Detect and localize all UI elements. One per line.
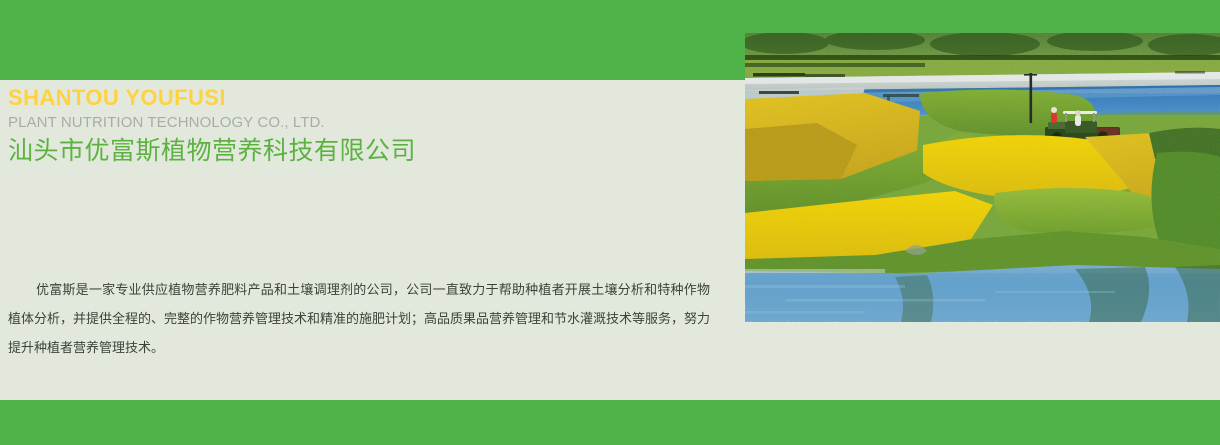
company-name-en: SHANTOU YOUFUSI [8, 85, 708, 111]
page-root: SHANTOU YOUFUSI PLANT NUTRITION TECHNOLO… [0, 0, 1220, 445]
footer-green-band [0, 400, 1220, 445]
company-intro-paragraph: 优富斯是一家专业供应植物营养肥料产品和土壤调理剂的公司，公司一直致力于帮助种植者… [8, 276, 710, 363]
company-subtitle-en: PLANT NUTRITION TECHNOLOGY CO., LTD. [8, 112, 708, 133]
brand-block: SHANTOU YOUFUSI PLANT NUTRITION TECHNOLO… [8, 85, 708, 167]
hero-photo-rice-fields [745, 33, 1220, 322]
company-name-cn: 汕头市优富斯植物营养科技有限公司 [8, 135, 708, 167]
rice-field-illustration [745, 33, 1220, 322]
